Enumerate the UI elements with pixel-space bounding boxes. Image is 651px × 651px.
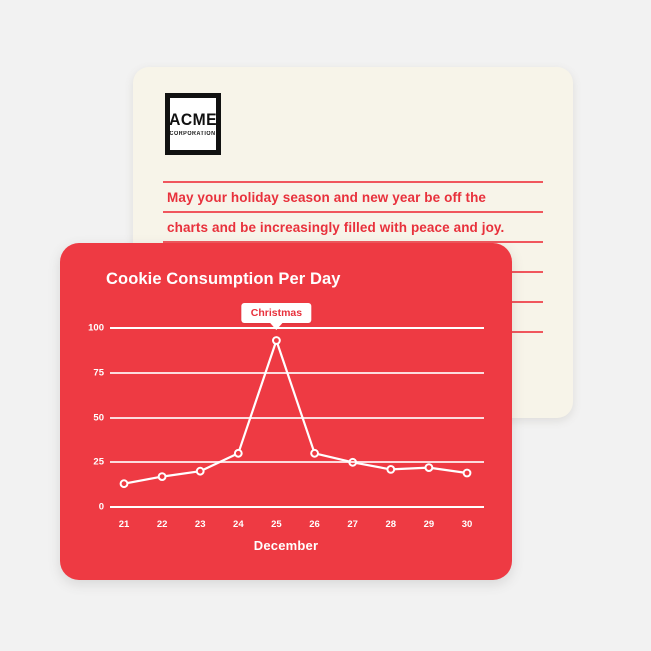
x-axis-tick-label: 24 bbox=[223, 519, 253, 530]
greeting-message-line: May your holiday season and new year be … bbox=[167, 190, 547, 205]
greeting-message-line: charts and be increasingly filled with p… bbox=[167, 220, 547, 235]
x-axis-tick-label: 22 bbox=[147, 519, 177, 530]
x-axis-tick-label: 23 bbox=[185, 519, 215, 530]
x-axis-tick-label: 30 bbox=[452, 519, 482, 530]
x-axis-tick-label: 28 bbox=[376, 519, 406, 530]
logo-main-text: ACME bbox=[169, 111, 217, 128]
logo-sub-text: CORPORATION bbox=[170, 131, 216, 137]
data-point-marker[interactable] bbox=[121, 480, 128, 487]
x-axis-tick-label: 21 bbox=[109, 519, 139, 530]
x-axis-tick-label: 29 bbox=[414, 519, 444, 530]
card-stage: ACME CORPORATION May your holiday season… bbox=[0, 0, 651, 651]
data-point-marker[interactable] bbox=[311, 450, 318, 457]
y-axis-tick-label: 0 bbox=[70, 502, 104, 513]
x-axis-tick-label: 26 bbox=[300, 519, 330, 530]
gridline bbox=[110, 461, 484, 463]
data-point-marker[interactable] bbox=[235, 450, 242, 457]
gridline bbox=[110, 506, 484, 508]
ruled-line bbox=[163, 181, 543, 183]
line-chart-plot: 025507510021222324252627282930Christmas bbox=[60, 243, 512, 580]
x-axis-title: December bbox=[60, 538, 512, 553]
christmas-annotation-tooltip: Christmas bbox=[242, 303, 311, 323]
chart-card: Cookie Consumption Per Day 0255075100212… bbox=[60, 243, 512, 580]
y-axis-tick-label: 50 bbox=[70, 412, 104, 423]
data-point-marker[interactable] bbox=[464, 470, 471, 477]
gridline bbox=[110, 372, 484, 374]
gridline bbox=[110, 417, 484, 419]
data-point-marker[interactable] bbox=[197, 468, 204, 475]
ruled-line bbox=[163, 211, 543, 213]
data-point-marker[interactable] bbox=[273, 337, 280, 344]
gridline bbox=[110, 327, 484, 329]
data-point-marker[interactable] bbox=[387, 466, 394, 473]
acme-corporation-logo: ACME CORPORATION bbox=[165, 93, 221, 155]
x-axis-tick-label: 25 bbox=[261, 519, 291, 530]
y-axis-tick-label: 75 bbox=[70, 367, 104, 378]
y-axis-tick-label: 100 bbox=[70, 323, 104, 334]
x-axis-tick-label: 27 bbox=[338, 519, 368, 530]
data-point-marker[interactable] bbox=[159, 473, 166, 480]
y-axis-tick-label: 25 bbox=[70, 457, 104, 468]
data-point-marker[interactable] bbox=[426, 464, 433, 471]
